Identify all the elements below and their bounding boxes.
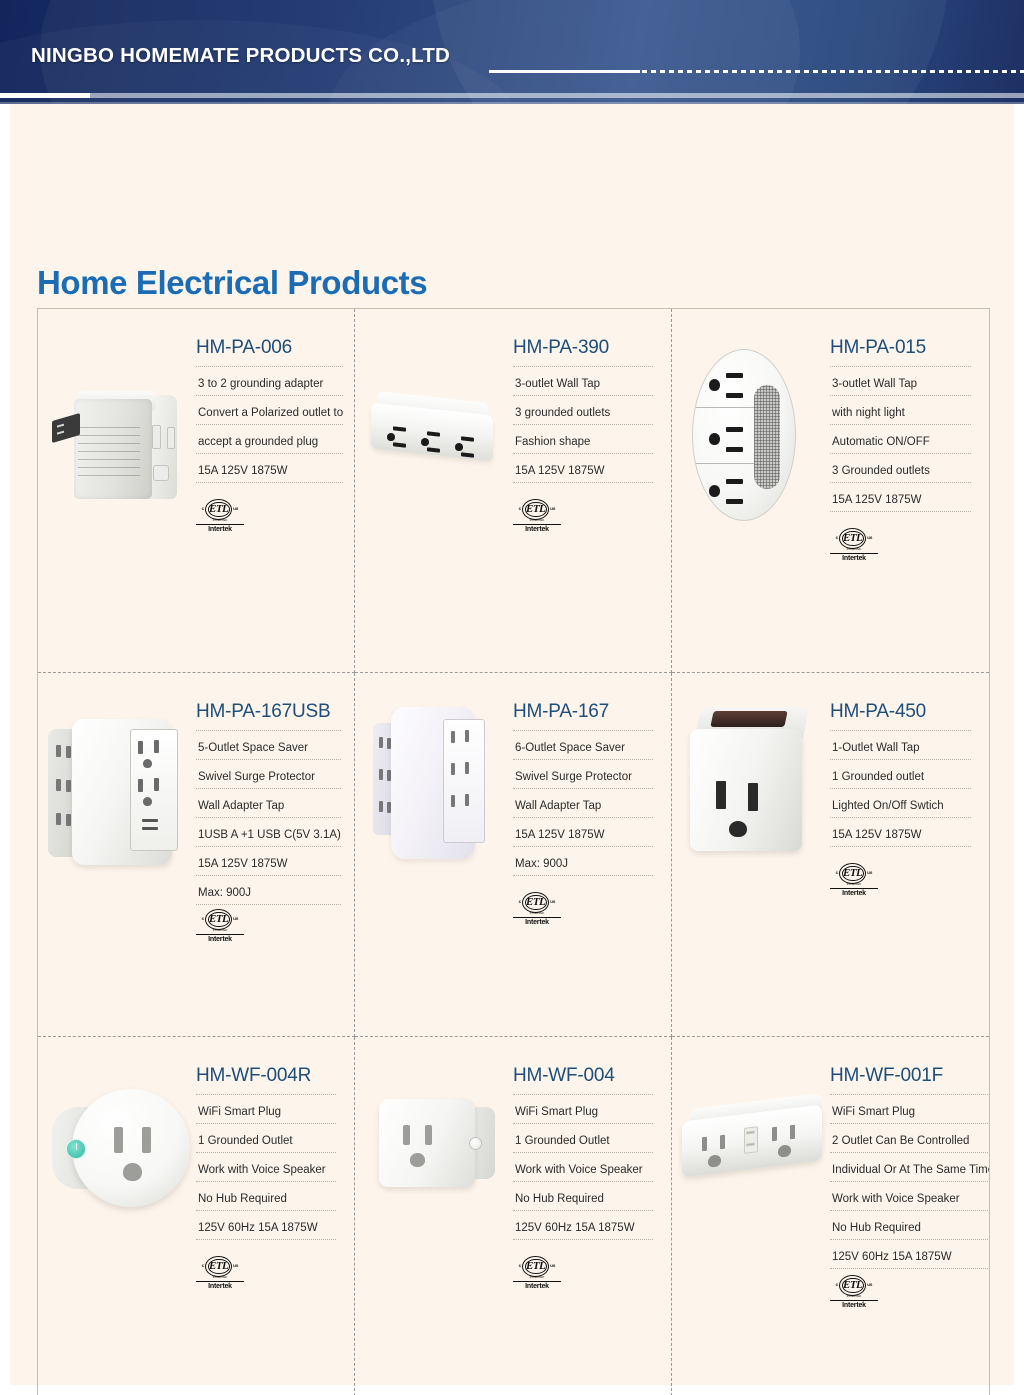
product-spec: 15A 125V 1875W	[196, 847, 341, 876]
power-button-icon	[469, 1137, 482, 1150]
product-spec: 15A 125V 1875W	[830, 818, 971, 847]
product-spec: 15A 125V 1875W	[830, 483, 971, 512]
etl-letters: ETL	[209, 504, 228, 515]
etl-c-code: c	[202, 1264, 205, 1269]
page-body: Home Electrical Products	[0, 104, 1024, 1395]
product-image	[672, 673, 824, 1036]
product-details: HM-PA-167USB 5-Outlet Space Saver Swivel…	[190, 673, 355, 943]
product-sku: HM-PA-450	[830, 701, 971, 731]
etl-certification-mark: c ETL us INTERTEK Intertek	[513, 499, 561, 533]
page-margin-right	[1014, 104, 1024, 1395]
etl-us-code: us	[867, 536, 872, 541]
etl-letters: ETL	[526, 504, 545, 515]
product-cell[interactable]: HM-WF-001F WiFi Smart Plug 2 Outlet Can …	[672, 1037, 989, 1395]
etl-us-code: us	[867, 871, 872, 876]
header-bottom-accent	[0, 93, 90, 98]
product-spec: 2 Outlet Can Be Controlled	[830, 1124, 989, 1153]
product-image	[672, 309, 824, 672]
etl-rule	[513, 917, 561, 918]
product-sku: HM-WF-004	[513, 1065, 653, 1095]
product-spec: Swivel Surge Protector	[513, 760, 653, 789]
product-cell[interactable]: HM-PA-006 3 to 2 grounding adapter Conve…	[38, 309, 355, 673]
product-spec: 3 Grounded outlets	[830, 454, 971, 483]
etl-us-code: us	[550, 900, 555, 905]
etl-c-code: c	[519, 900, 522, 905]
product-sku: HM-WF-004R	[196, 1065, 336, 1095]
etl-brand: Intertek	[513, 1283, 561, 1290]
product-spec: 125V 60Hz 15A 1875W	[513, 1211, 653, 1240]
product-spec: WiFi Smart Plug	[513, 1095, 653, 1124]
etl-brand: Intertek	[830, 1302, 878, 1309]
product-cell[interactable]: HM-WF-004R WiFi Smart Plug 1 Grounded Ou…	[38, 1037, 355, 1395]
etl-badge-icon: ETL	[522, 1256, 549, 1277]
etl-badge-icon: ETL	[205, 1256, 232, 1277]
product-spec: Swivel Surge Protector	[196, 760, 341, 789]
product-cell[interactable]: HM-PA-167 6-Outlet Space Saver Swivel Su…	[355, 673, 672, 1037]
etl-c-code: c	[519, 1264, 522, 1269]
product-spec: Individual Or At The Same Time	[830, 1153, 989, 1182]
etl-badge-icon: ETL	[839, 528, 866, 549]
product-spec: Work with Voice Speaker	[196, 1153, 336, 1182]
etl-badge-icon: ETL	[522, 892, 549, 913]
page-margin-left	[0, 104, 10, 1395]
etl-brand: Intertek	[830, 890, 878, 897]
etl-letters: ETL	[843, 1280, 862, 1291]
product-image	[38, 673, 190, 1036]
product-spec: with night light	[830, 396, 971, 425]
three-to-two-grounding-adapter-image	[52, 381, 182, 516]
etl-rule	[513, 1281, 561, 1282]
etl-letters: ETL	[209, 1261, 228, 1272]
round-wifi-smart-plug-image	[50, 1085, 194, 1215]
product-spec: 1 Grounded Outlet	[513, 1124, 653, 1153]
product-grid: HM-PA-006 3 to 2 grounding adapter Conve…	[37, 308, 990, 1395]
product-details: HM-PA-015 3-outlet Wall Tap with night l…	[824, 309, 989, 562]
product-spec: Max: 900J	[196, 876, 341, 905]
etl-us-code: us	[550, 1264, 555, 1269]
product-spec: 6-Outlet Space Saver	[513, 731, 653, 760]
etl-us-code: us	[550, 507, 555, 512]
etl-c-code: c	[836, 536, 839, 541]
product-details: HM-WF-001F WiFi Smart Plug 2 Outlet Can …	[824, 1037, 989, 1309]
etl-us-code: us	[867, 1283, 872, 1288]
etl-letters: ETL	[526, 897, 545, 908]
product-image	[355, 673, 507, 1036]
product-details: HM-PA-390 3-outlet Wall Tap 3 grounded o…	[507, 309, 671, 533]
product-spec: 1-Outlet Wall Tap	[830, 731, 971, 760]
three-outlet-wall-tap-image	[363, 387, 503, 497]
etl-brand: Intertek	[196, 526, 244, 533]
etl-brand: Intertek	[830, 555, 878, 562]
product-sku: HM-PA-167	[513, 701, 653, 731]
three-outlet-night-light-tap-image	[692, 349, 804, 524]
etl-letters: ETL	[526, 1261, 545, 1272]
product-spec: Work with Voice Speaker	[830, 1182, 989, 1211]
product-spec: Wall Adapter Tap	[513, 789, 653, 818]
etl-us-code: us	[233, 917, 238, 922]
etl-c-code: c	[836, 1283, 839, 1288]
etl-certification-mark: c ETL us INTERTEK Intertek	[830, 528, 878, 562]
product-cell[interactable]: HM-PA-167USB 5-Outlet Space Saver Swivel…	[38, 673, 355, 1037]
etl-certification-mark: c ETL us INTERTEK Intertek	[196, 499, 244, 533]
etl-rule	[830, 1300, 878, 1301]
company-name: NINGBO HOMEMATE PRODUCTS CO.,LTD	[31, 44, 450, 68]
etl-us-code: us	[233, 1264, 238, 1269]
etl-brand: Intertek	[513, 919, 561, 926]
etl-certification-mark: c ETL us INTERTEK Intertek	[830, 863, 878, 897]
product-sku: HM-PA-390	[513, 337, 653, 367]
etl-certification-mark: c ETL us INTERTEK Intertek	[513, 1256, 561, 1290]
product-spec: 125V 60Hz 15A 1875W	[196, 1211, 336, 1240]
six-outlet-space-saver-image	[369, 697, 503, 877]
page-header-banner: NINGBO HOMEMATE PRODUCTS CO.,LTD	[0, 0, 1024, 104]
one-outlet-lighted-switch-tap-image	[684, 699, 824, 869]
header-dashed-rule	[642, 70, 1024, 73]
product-details: HM-WF-004 WiFi Smart Plug 1 Grounded Out…	[507, 1037, 671, 1290]
etl-us-code: us	[233, 507, 238, 512]
product-image	[672, 1037, 824, 1395]
five-outlet-space-saver-usb-image	[44, 703, 190, 883]
product-spec: 1USB A +1 USB C(5V 3.1A)	[196, 818, 341, 847]
product-sku: HM-PA-006	[196, 337, 343, 367]
dual-outlet-wifi-smart-plug-image	[676, 1093, 828, 1203]
etl-badge-icon: ETL	[839, 863, 866, 884]
product-spec: Automatic ON/OFF	[830, 425, 971, 454]
page-title: Home Electrical Products	[37, 264, 427, 302]
etl-letters: ETL	[843, 868, 862, 879]
header-bottom-bar	[0, 93, 1024, 98]
product-spec: Max: 900J	[513, 847, 653, 876]
product-spec: 3 grounded outlets	[513, 396, 653, 425]
product-spec: 15A 125V 1875W	[513, 454, 653, 483]
banner-arc-decoration	[430, 0, 950, 104]
etl-letters: ETL	[209, 914, 228, 925]
etl-brand: Intertek	[513, 526, 561, 533]
etl-rule	[830, 888, 878, 889]
product-spec: Wall Adapter Tap	[196, 789, 341, 818]
etl-badge-icon: ETL	[205, 499, 232, 520]
etl-rule	[196, 1281, 244, 1282]
product-image	[355, 309, 507, 672]
etl-badge-icon: ETL	[205, 909, 232, 930]
product-spec: No Hub Required	[830, 1211, 989, 1240]
product-spec: 15A 125V 1875W	[196, 454, 343, 483]
etl-brand: Intertek	[196, 936, 244, 943]
product-spec: 1 Grounded Outlet	[196, 1124, 336, 1153]
product-spec: Convert a Polarized outlet to	[196, 396, 343, 425]
product-spec: Lighted On/Off Swtich	[830, 789, 971, 818]
etl-c-code: c	[202, 917, 205, 922]
header-solid-rule	[489, 70, 640, 73]
product-cell[interactable]: HM-WF-004 WiFi Smart Plug 1 Grounded Out…	[355, 1037, 672, 1395]
product-details: HM-PA-450 1-Outlet Wall Tap 1 Grounded o…	[824, 673, 989, 897]
product-spec: 3-outlet Wall Tap	[830, 367, 971, 396]
etl-certification-mark: c ETL us INTERTEK Intertek	[196, 909, 244, 943]
product-spec: WiFi Smart Plug	[830, 1095, 989, 1124]
product-spec: 5-Outlet Space Saver	[196, 731, 341, 760]
etl-c-code: c	[519, 507, 522, 512]
product-cell[interactable]: HM-PA-450 1-Outlet Wall Tap 1 Grounded o…	[672, 673, 989, 1037]
product-spec: 15A 125V 1875W	[513, 818, 653, 847]
etl-c-code: c	[836, 871, 839, 876]
etl-rule	[513, 524, 561, 525]
product-spec: 3-outlet Wall Tap	[513, 367, 653, 396]
etl-rule	[830, 553, 878, 554]
product-details: HM-PA-167 6-Outlet Space Saver Swivel Su…	[507, 673, 671, 926]
power-button-icon	[66, 1139, 86, 1159]
product-details: HM-PA-006 3 to 2 grounding adapter Conve…	[190, 309, 355, 533]
product-sku: HM-PA-167USB	[196, 701, 341, 731]
product-spec: 1 Grounded outlet	[830, 760, 971, 789]
product-spec: No Hub Required	[196, 1182, 336, 1211]
etl-brand: Intertek	[196, 1283, 244, 1290]
product-spec: 3 to 2 grounding adapter	[196, 367, 343, 396]
product-cell[interactable]: HM-PA-015 3-outlet Wall Tap with night l…	[672, 309, 989, 673]
product-spec: 125V 60Hz 15A 1875W	[830, 1240, 989, 1269]
product-details: HM-WF-004R WiFi Smart Plug 1 Grounded Ou…	[190, 1037, 354, 1290]
etl-rule	[196, 524, 244, 525]
etl-badge-icon: ETL	[522, 499, 549, 520]
product-spec: Fashion shape	[513, 425, 653, 454]
product-sku: HM-PA-015	[830, 337, 971, 367]
product-spec: Work with Voice Speaker	[513, 1153, 653, 1182]
product-spec: WiFi Smart Plug	[196, 1095, 336, 1124]
etl-certification-mark: c ETL us INTERTEK Intertek	[196, 1256, 244, 1290]
product-image	[355, 1037, 507, 1395]
etl-certification-mark: c ETL us INTERTEK Intertek	[513, 892, 561, 926]
etl-certification-mark: c ETL us INTERTEK Intertek	[830, 1275, 878, 1309]
etl-letters: ETL	[843, 533, 862, 544]
product-sku: HM-WF-001F	[830, 1065, 989, 1095]
etl-c-code: c	[202, 507, 205, 512]
etl-rule	[196, 934, 244, 935]
product-image	[38, 309, 190, 672]
product-image	[38, 1037, 190, 1395]
rectangular-wifi-smart-plug-image	[369, 1091, 511, 1211]
etl-badge-icon: ETL	[839, 1275, 866, 1296]
product-cell[interactable]: HM-PA-390 3-outlet Wall Tap 3 grounded o…	[355, 309, 672, 673]
lighted-on-off-switch	[710, 711, 787, 727]
product-spec: accept a grounded plug	[196, 425, 343, 454]
product-spec: No Hub Required	[513, 1182, 653, 1211]
